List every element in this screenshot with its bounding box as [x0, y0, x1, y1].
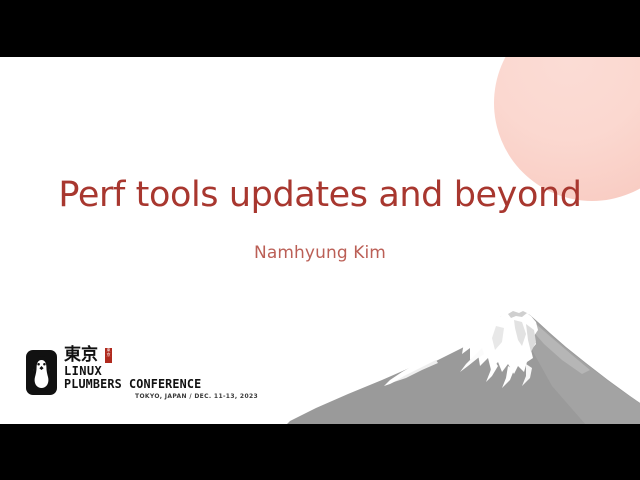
logo-text-block: 東京 東京 LINUX PLUMBERS CONFERENCE TOKYO, J…	[64, 346, 216, 366]
letterbox-bar-bottom	[0, 424, 640, 480]
logo-tagline: TOKYO, JAPAN / DEC. 11-13, 2023	[135, 393, 258, 400]
presenter-name: Namhyung Kim	[0, 243, 640, 263]
penguin-icon	[29, 352, 54, 392]
logo-japanese-row: 東京 東京	[64, 346, 216, 366]
logo-japanese-name: 東京	[64, 346, 98, 365]
logo-line-plumbers-conference: PLUMBERS CONFERENCE	[64, 378, 201, 391]
conference-logo: 東京 東京 LINUX PLUMBERS CONFERENCE TOKYO, J…	[26, 346, 216, 408]
mount-fuji-illustration	[286, 300, 640, 424]
logo-seal-stamp: 東京	[105, 348, 112, 363]
letterbox-bar-top	[0, 0, 640, 57]
presentation-slide: Perf tools updates and beyond Namhyung K…	[0, 0, 640, 480]
page-title: Perf tools updates and beyond	[0, 177, 640, 214]
slide-canvas: Perf tools updates and beyond Namhyung K…	[0, 57, 640, 424]
